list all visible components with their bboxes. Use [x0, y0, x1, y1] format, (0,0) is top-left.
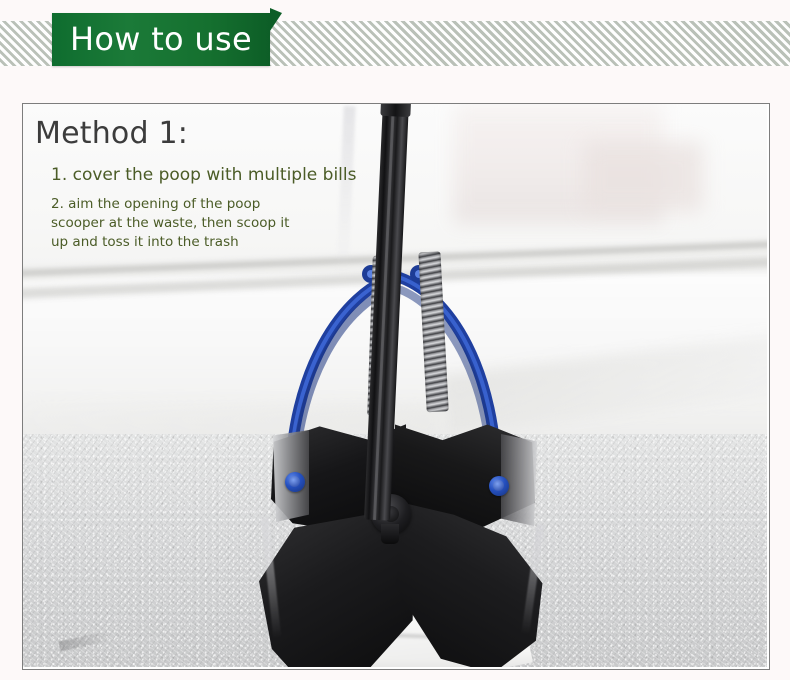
instruction-photo-panel: Method 1: 1. cover the poop with multipl…: [22, 103, 770, 670]
header-banner: How to use: [0, 0, 790, 92]
how-to-use-label: How to use: [52, 13, 270, 66]
page-root: { "page": { "background_color": "#fdf9f9…: [0, 0, 790, 680]
instruction-text-block: Method 1: 1. cover the poop with multipl…: [33, 116, 393, 251]
jaw-blade-right: [385, 504, 549, 667]
tag-flag-point-icon: [270, 13, 282, 31]
instruction-step-2-line-1: 2. aim the opening of the poop: [51, 195, 393, 214]
how-to-use-tag: How to use: [52, 13, 270, 66]
instruction-step-1: 1. cover the poop with multiple bills: [51, 165, 393, 185]
hinge-tab: [381, 524, 399, 544]
instruction-step-2: 2. aim the opening of the poop scooper a…: [51, 195, 393, 251]
photo-canvas: Method 1: 1. cover the poop with multipl…: [23, 104, 767, 667]
pivot-screw-right: [493, 480, 504, 491]
method-title: Method 1:: [35, 116, 393, 151]
instruction-step-2-line-2: scooper at the waste, then scoop it: [51, 214, 393, 233]
pivot-screw-left: [289, 476, 300, 487]
instruction-step-2-line-3: up and toss it into the trash: [51, 233, 393, 252]
